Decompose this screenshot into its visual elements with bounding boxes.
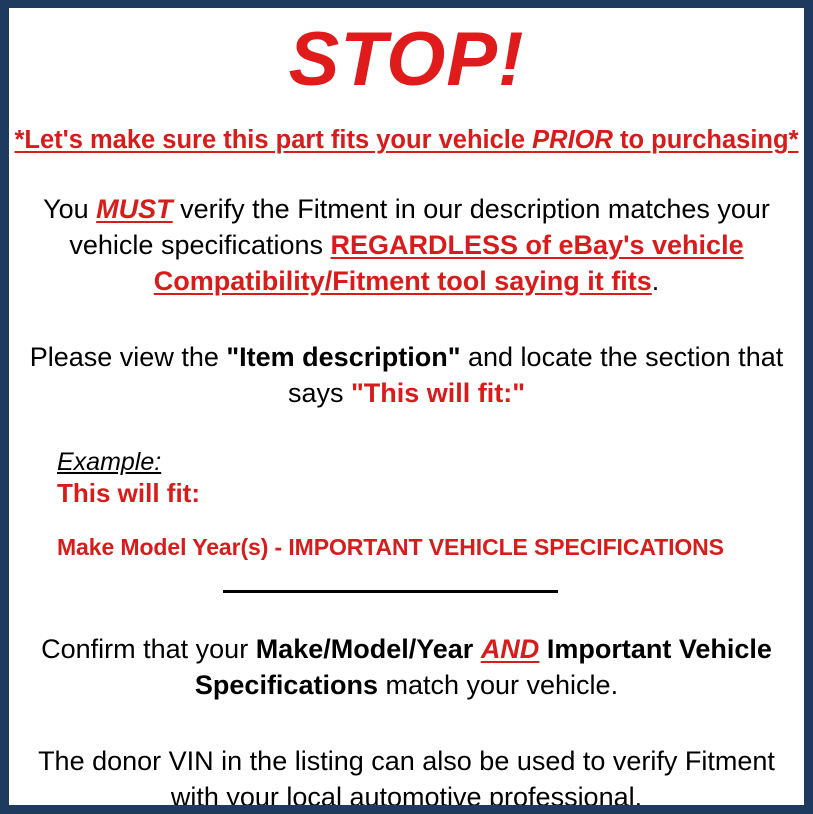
notice-content-area: STOP! *Let's make sure this part fits yo…	[9, 8, 804, 805]
example-label-row: Example:	[57, 448, 804, 476]
subtitle-banner: *Let's make sure this part fits your veh…	[9, 126, 804, 154]
confirm-text-tail: match your vehicle.	[378, 670, 618, 700]
subtitle-text-lead: *Let's make sure this part fits your veh…	[14, 126, 532, 154]
paragraph-donor-vin: The donor VIN in the listing can also be…	[9, 744, 804, 805]
confirm-space-1	[473, 634, 481, 664]
notice-border-frame: STOP! *Let's make sure this part fits yo…	[0, 0, 813, 814]
emphasis-must: MUST	[96, 194, 173, 224]
emphasis-and: AND	[481, 634, 540, 664]
horizontal-rule-icon	[223, 590, 558, 593]
must-text-lead: You	[43, 194, 96, 224]
divider-container	[9, 590, 804, 594]
example-fit-heading: This will fit:	[57, 478, 804, 509]
confirm-text-lead: Confirm that your	[41, 634, 256, 664]
confirm-space-2	[539, 634, 547, 664]
example-label: Example:	[57, 448, 161, 476]
example-spec-line: Make Model Year(s) - IMPORTANT VEHICLE S…	[57, 534, 804, 562]
example-section: Example: This will fit: Make Model Year(…	[9, 448, 804, 562]
page-title: STOP!	[9, 22, 804, 98]
paragraph-view-description: Please view the "Item description" and l…	[9, 340, 804, 412]
emphasis-item-description: "Item description"	[226, 342, 460, 372]
emphasis-this-will-fit-quote: "This will fit:"	[351, 378, 525, 408]
paragraph-confirm-match: Confirm that your Make/Model/Year AND Im…	[9, 632, 804, 704]
paragraph-must-verify: You MUST verify the Fitment in our descr…	[9, 192, 804, 300]
must-text-tail: .	[652, 266, 660, 296]
view-text-lead: Please view the	[30, 342, 227, 372]
subtitle-emphasis-prior: PRIOR	[532, 126, 613, 154]
subtitle-text-tail: to purchasing*	[613, 126, 799, 154]
emphasis-make-model-year: Make/Model/Year	[256, 634, 474, 664]
